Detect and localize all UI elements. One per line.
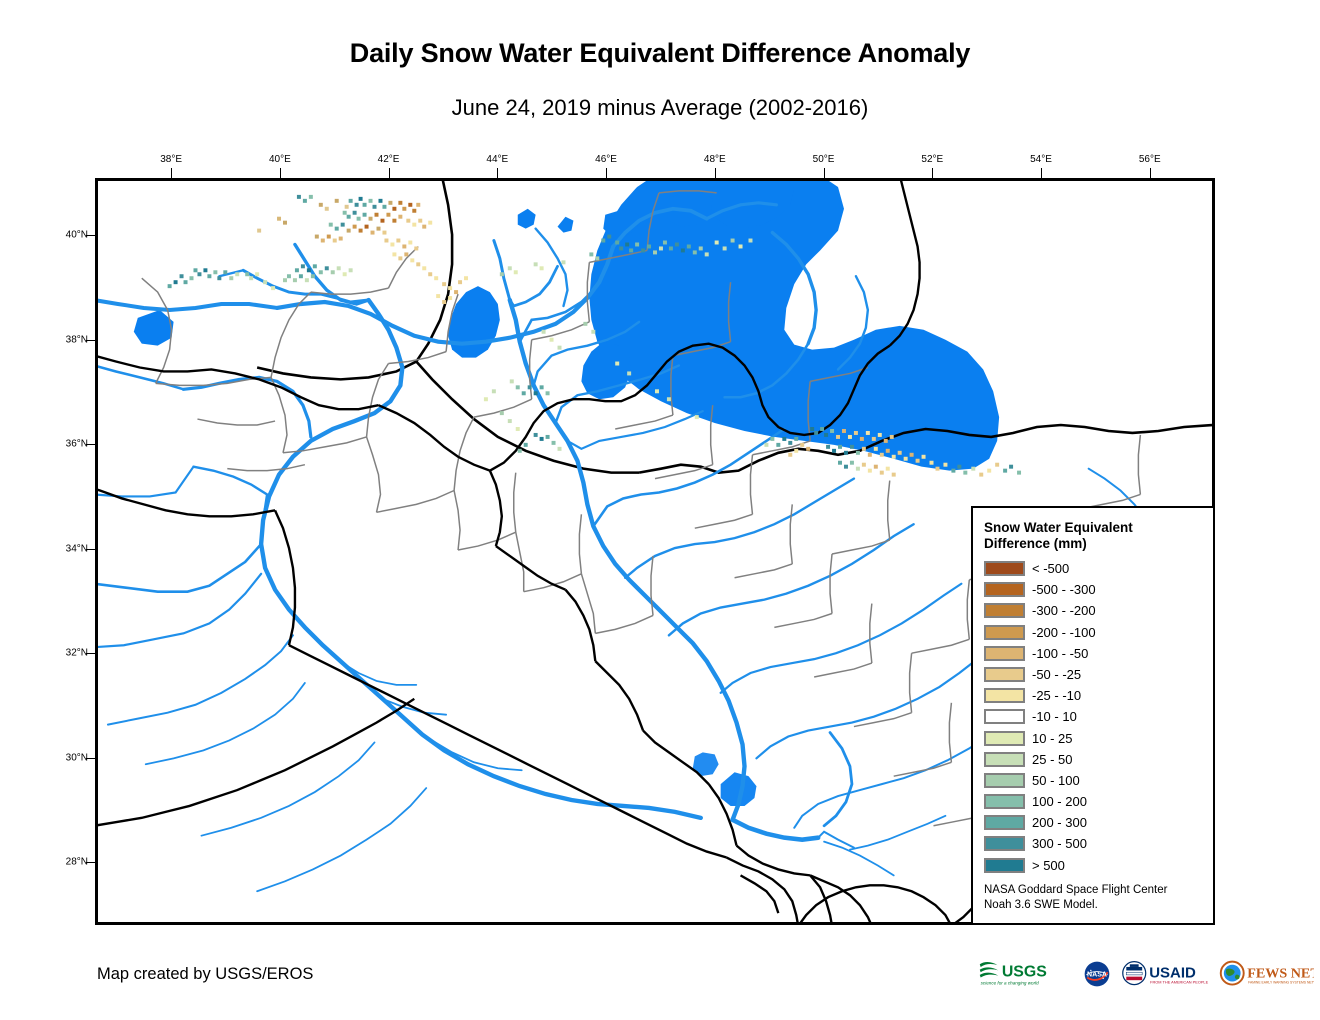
legend-label: -300 - -200 <box>1032 603 1096 618</box>
legend-row: 25 - 50 <box>984 749 1203 770</box>
legend-label: -100 - -50 <box>1032 646 1088 661</box>
legend-row: < -500 <box>984 558 1203 579</box>
legend-row: 50 - 100 <box>984 770 1203 791</box>
lat-tick-label: 34°N <box>50 543 88 554</box>
legend-row: -25 - -10 <box>984 685 1203 706</box>
legend-label: -200 - -100 <box>1032 625 1096 640</box>
legend-label: 25 - 50 <box>1032 752 1072 767</box>
svg-text:USGS: USGS <box>1002 964 1047 981</box>
lon-tick-label: 52°E <box>921 154 943 165</box>
lat-tick-label: 36°N <box>50 439 88 450</box>
map-credit: Map created by USGS/EROS <box>97 965 313 984</box>
svg-text:FEWS NET: FEWS NET <box>1247 966 1314 982</box>
lon-tick-label: 54°E <box>1030 154 1052 165</box>
legend-swatch <box>984 752 1025 767</box>
legend-row: -100 - -50 <box>984 643 1203 664</box>
legend-label: 300 - 500 <box>1032 836 1087 851</box>
legend-row: -50 - -25 <box>984 664 1203 685</box>
lat-tick-label: 40°N <box>50 230 88 241</box>
legend-label: 100 - 200 <box>1032 794 1087 809</box>
legend-label: 10 - 25 <box>1032 731 1072 746</box>
legend-row: -300 - -200 <box>984 600 1203 621</box>
svg-text:FROM THE AMERICAN PEOPLE: FROM THE AMERICAN PEOPLE <box>1150 980 1208 985</box>
legend-swatch <box>984 815 1025 830</box>
legend-swatch <box>984 773 1025 788</box>
lon-tick-label: 56°E <box>1139 154 1161 165</box>
legend-row: -500 - -300 <box>984 579 1203 600</box>
legend-title: Snow Water Equivalent Difference (mm) <box>984 520 1203 553</box>
page-subtitle: June 24, 2019 minus Average (2002-2016) <box>0 95 1320 121</box>
legend-row: 200 - 300 <box>984 812 1203 833</box>
legend-swatch <box>984 646 1025 661</box>
legend-swatch <box>984 858 1025 873</box>
legend-swatch <box>984 582 1025 597</box>
legend-row: -200 - -100 <box>984 622 1203 643</box>
usaid-logo[interactable]: USAID FROM THE AMERICAN PEOPLE <box>1121 959 1209 989</box>
legend-label: -25 - -10 <box>1032 688 1081 703</box>
lon-tick-label: 42°E <box>378 154 400 165</box>
legend-swatch <box>984 603 1025 618</box>
svg-text:NASA: NASA <box>1087 972 1107 979</box>
legend-label: > 500 <box>1032 858 1065 873</box>
legend-row: 10 - 25 <box>984 727 1203 748</box>
usgs-logo[interactable]: USGS science for a changing world <box>978 959 1073 989</box>
legend-swatch <box>984 625 1025 640</box>
legend-class-list: < -500-500 - -300-300 - -200-200 - -100-… <box>984 558 1203 876</box>
legend-label: -500 - -300 <box>1032 582 1096 597</box>
legend-swatch <box>984 731 1025 746</box>
legend-label: < -500 <box>1032 561 1069 576</box>
legend-label: 50 - 100 <box>1032 773 1080 788</box>
svg-text:FAMINE EARLY WARNING SYSTEMS N: FAMINE EARLY WARNING SYSTEMS NETWORK <box>1248 981 1314 985</box>
legend-label: -10 - 10 <box>1032 709 1077 724</box>
lat-tick-label: 28°N <box>50 857 88 868</box>
legend-swatch <box>984 794 1025 809</box>
legend-row: -10 - 10 <box>984 706 1203 727</box>
legend-swatch <box>984 688 1025 703</box>
lat-tick-label: 30°N <box>50 752 88 763</box>
nasa-logo[interactable]: NASA <box>1082 959 1112 989</box>
legend-swatch <box>984 667 1025 682</box>
agency-logo-bar: USGS science for a changing world NASA U… <box>978 957 1314 991</box>
legend-swatch <box>984 561 1025 576</box>
legend-row: 300 - 500 <box>984 833 1203 854</box>
page-title: Daily Snow Water Equivalent Difference A… <box>0 38 1320 69</box>
legend-swatch <box>984 709 1025 724</box>
lon-tick-label: 44°E <box>486 154 508 165</box>
fewsnet-logo[interactable]: FEWS NET FAMINE EARLY WARNING SYSTEMS NE… <box>1219 959 1314 989</box>
lon-tick-label: 40°E <box>269 154 291 165</box>
legend-swatch <box>984 836 1025 851</box>
legend-source-note: NASA Goddard Space Flight Center Noah 3.… <box>984 883 1203 913</box>
lat-tick-label: 38°N <box>50 334 88 345</box>
lon-tick-label: 50°E <box>813 154 835 165</box>
legend-label: 200 - 300 <box>1032 815 1087 830</box>
lon-tick-label: 46°E <box>595 154 617 165</box>
legend-row: > 500 <box>984 855 1203 876</box>
legend-row: 100 - 200 <box>984 791 1203 812</box>
legend-label: -50 - -25 <box>1032 667 1081 682</box>
map-legend: Snow Water Equivalent Difference (mm) < … <box>971 506 1215 925</box>
lat-tick-label: 32°N <box>50 648 88 659</box>
svg-text:science for a changing world: science for a changing world <box>981 981 1039 986</box>
lon-tick-label: 48°E <box>704 154 726 165</box>
lon-tick-label: 38°E <box>160 154 182 165</box>
